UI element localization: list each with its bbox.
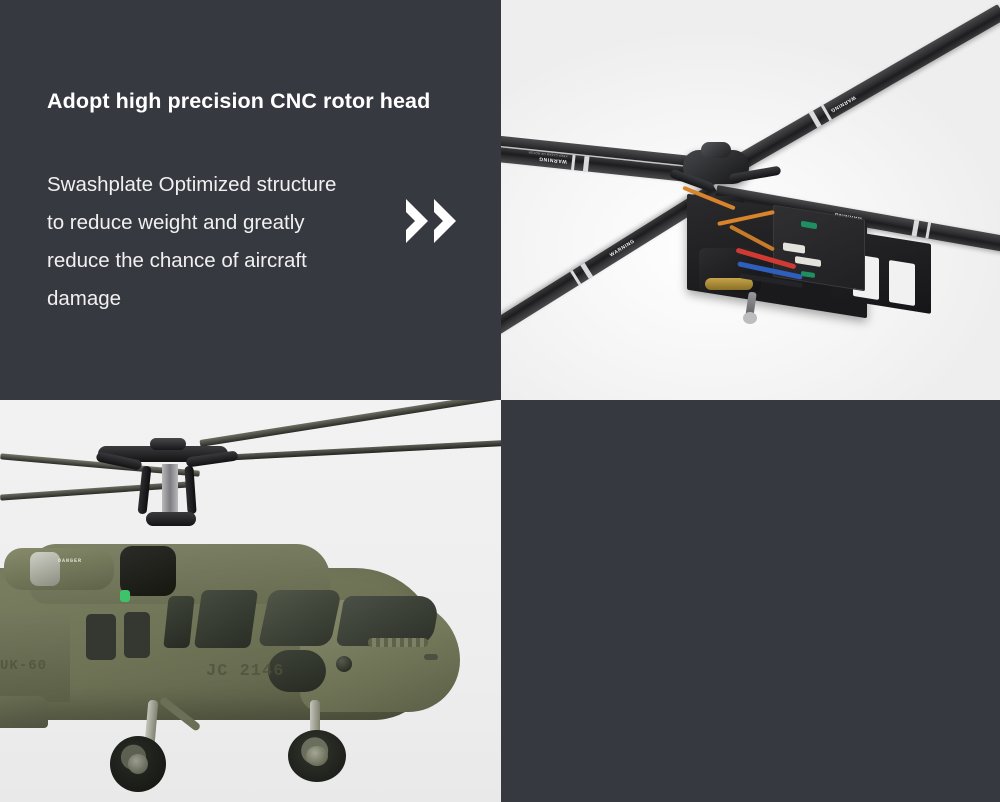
cabin-window-rear-3: [124, 612, 150, 658]
airframe-serial-number: JC 2146: [206, 662, 284, 681]
top-left-body-text: Swashplate Optimized structure to reduce…: [47, 166, 397, 318]
cabin-door-window: [194, 590, 258, 648]
engine-exhaust-port: [120, 546, 176, 596]
panel-top-left-cnc-rotor-head: Adopt high precision CNC rotor head Swas…: [0, 0, 501, 400]
cabin-window-rear-2: [86, 614, 116, 660]
main-wheel-left-hub: [128, 754, 148, 774]
nose-sensor-dome: [336, 656, 352, 672]
airframe-type-designation: UK-60: [0, 658, 47, 674]
main-rotor-blade-right: [199, 400, 501, 447]
linkage-ball-end: [743, 312, 757, 324]
danger-placard-label: DANGER: [58, 558, 82, 564]
nose-vent-grille: [368, 638, 428, 647]
engine-intake-cap: [30, 552, 60, 586]
rotor-hub-top-cap: [150, 438, 186, 450]
top-left-headline: Adopt high precision CNC rotor head: [47, 84, 487, 118]
rotor-head-assembly-photo: WARNING WARNING KEEP CLEAR OF ROTOR WARN…: [501, 0, 1000, 400]
uh60-scale-model-photo: [0, 400, 501, 802]
motor-winding-copper: [705, 278, 753, 290]
product-feature-collage: Adopt high precision CNC rotor head Swas…: [0, 0, 1000, 802]
main-rotor-blade-right-2: [200, 439, 501, 462]
pitot-tube: [424, 654, 438, 660]
double-chevron-right-icon: [404, 198, 458, 244]
stabilator: [0, 696, 48, 728]
panel-top-right-rotor-head-photo: WARNING WARNING KEEP CLEAR OF ROTOR WARN…: [501, 0, 1000, 400]
panel-bottom-left-helicopter-photo: JC 2146 UK-60 DANGER: [0, 400, 501, 802]
cockpit-windshield-left: [258, 590, 342, 646]
swashplate: [146, 512, 196, 526]
cabin-window-rear-1: [163, 596, 194, 648]
navigation-light-green: [120, 590, 130, 602]
rotor-hub-cap: [701, 142, 731, 158]
main-wheel-right-hub: [306, 746, 328, 766]
frame-window-cutout-2: [889, 260, 915, 306]
panel-bottom-right-casing-process: The casing adopts hot runner injection m…: [501, 400, 1000, 802]
rotor-blade-upper-right: WARNING: [712, 4, 1000, 184]
